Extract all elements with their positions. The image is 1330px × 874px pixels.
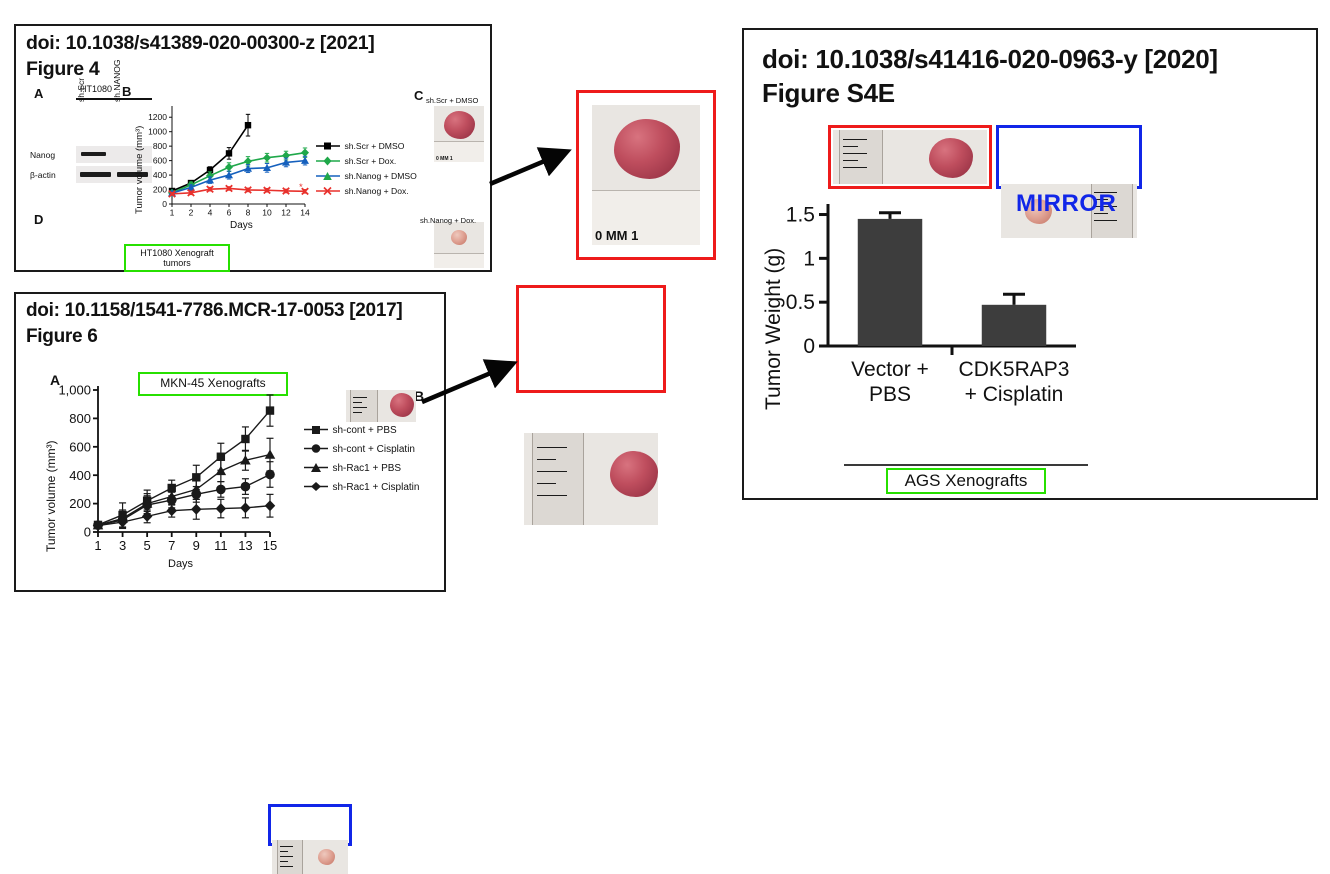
tumor-shape-vector-pbs [929, 138, 973, 178]
panel1-letter-d: D [34, 212, 43, 227]
panel-paper-3: doi: 10.1038/s41416-020-0963-y [2020] Fi… [742, 28, 1318, 500]
legend2-label-2: sh-Rac1 + PBS [332, 463, 401, 474]
svg-text:13: 13 [238, 538, 252, 553]
enlargement-ruler-top: 0 MM 1 [592, 190, 700, 245]
legend-swatch-0 [316, 141, 340, 151]
legend-swatch-3 [316, 186, 340, 196]
legend2-swatch-2 [304, 462, 328, 473]
panel2-chart-ylabel: Tumor volume (mm³) [44, 440, 58, 552]
panel3-bar-chart: Tumor Weight (g) 00.511.5Vector +PBSCDK5… [756, 188, 1086, 438]
svg-text:9: 9 [193, 538, 200, 553]
panel-paper-2: doi: 10.1158/1541-7786.MCR-17-0053 [2017… [14, 292, 446, 592]
panel1-letter-b: B [122, 84, 131, 99]
legend2-swatch-3 [304, 481, 328, 492]
panel3-greenbox-label: AGS Xenografts [905, 471, 1028, 490]
svg-text:CDK5RAP3: CDK5RAP3 [959, 358, 1070, 381]
enlargement-red-box-bottom [516, 285, 666, 393]
ruler-text-top: 0 MM 1 [436, 156, 453, 162]
svg-text:12: 12 [281, 208, 291, 218]
panel1-line-chart: Tumor volume (mm³) 020040060080010001200… [128, 102, 313, 236]
svg-text:6: 6 [227, 208, 232, 218]
enlargement-photo-top: 0 MM 1 [592, 105, 700, 245]
panel2-figure-label: Figure 6 [26, 326, 98, 348]
panel3-blue-highlight-box [996, 125, 1142, 189]
svg-text:400: 400 [69, 468, 91, 483]
panel1-figure-label: Figure 4 [26, 58, 99, 81]
legend2-item-0: sh-cont + PBS [304, 422, 397, 440]
legend2-item-3: sh-Rac1 + Cisplatin [304, 479, 419, 497]
svg-text:200: 200 [69, 496, 91, 511]
svg-text:200: 200 [153, 185, 167, 195]
panel1-letter-a: A [34, 86, 43, 101]
panel3-chart-svg: 00.511.5Vector +PBSCDK5RAP3+ Cisplatin [756, 188, 1086, 438]
svg-text:800: 800 [153, 141, 167, 151]
blot-lane-label-2: sh.NANOG [112, 59, 122, 102]
panel1-letter-c: C [414, 88, 423, 103]
panel2-source-photo-top [346, 390, 416, 422]
svg-text:0: 0 [803, 335, 815, 358]
svg-text:800: 800 [69, 411, 91, 426]
panel2-chart-svg: 02004006008001,00013579111315 [40, 380, 280, 578]
panel1-chart-xlabel: Days [230, 220, 253, 231]
svg-text:14: 14 [300, 208, 310, 218]
legend-label-1: sh.Scr + Dox. [344, 156, 396, 166]
svg-text:11: 11 [214, 538, 228, 553]
svg-text:400: 400 [153, 170, 167, 180]
svg-text:+ Cisplatin: + Cisplatin [965, 383, 1064, 406]
panel1-doi: doi: 10.1038/s41389-020-00300-z [2021] [26, 32, 375, 55]
enlargement-tumor-bottom [610, 451, 658, 497]
blot-row-label-2: β-actin [30, 170, 56, 180]
svg-text:600: 600 [153, 156, 167, 166]
legend-label-0: sh.Scr + DMSO [344, 141, 404, 151]
svg-text:7: 7 [168, 538, 175, 553]
svg-text:10: 10 [262, 208, 272, 218]
legend-swatch-2 [316, 171, 340, 181]
svg-text:600: 600 [69, 439, 91, 454]
panelC-bottom-label: sh.Nanog + Dox. [420, 216, 476, 225]
svg-text:1: 1 [170, 208, 175, 218]
panel-paper-1: doi: 10.1038/s41389-020-00300-z [2021] F… [14, 24, 492, 272]
panel3-greenbox: AGS Xenografts [886, 468, 1046, 494]
legend-item-3: sh.Nanog + Dox. [316, 183, 409, 201]
svg-text:2: 2 [189, 208, 194, 218]
legend2-swatch-1 [304, 443, 328, 454]
enlargement-ruler-text: 0 MM 1 [595, 228, 638, 243]
panel1-chart-ylabel: Tumor volume (mm³) [134, 126, 145, 214]
svg-text:1,000: 1,000 [58, 383, 91, 398]
panel3-group-rule [844, 464, 1088, 466]
svg-text:4: 4 [208, 208, 213, 218]
svg-text:1: 1 [803, 247, 815, 270]
legend2-item-1: sh-cont + Cisplatin [304, 441, 415, 459]
legend-label-2: sh.Nanog + DMSO [344, 171, 416, 181]
panel3-doi: doi: 10.1038/s41416-020-0963-y [2020] [762, 44, 1218, 75]
svg-text:5: 5 [144, 538, 151, 553]
legend-label-3: sh.Nanog + Dox. [344, 186, 408, 196]
panel2-bottom-ruler [277, 840, 303, 874]
panelC-tumor-photo-top: 0 MM 1 [434, 106, 484, 162]
blot-band-nanog-scr [81, 152, 106, 156]
svg-text:0: 0 [84, 525, 91, 540]
panel2-source-photo-bottom [272, 840, 348, 874]
svg-text:1.5: 1.5 [786, 204, 815, 227]
enlargement-photo-bottom [524, 433, 658, 525]
blot-band-bactin-scr [80, 172, 111, 177]
panel3-photo-vector-pbs [833, 130, 987, 184]
enlargement-tumor-top [614, 119, 680, 179]
ruler-strip-top: 0 MM 1 [434, 141, 484, 162]
legend-swatch-1 [316, 156, 340, 166]
panel1-greenbox-label: HT1080 Xenograft tumors [126, 248, 228, 268]
panelC-top-label: sh.Scr + DMSO [426, 96, 478, 105]
svg-text:15: 15 [263, 538, 277, 553]
panelC-tumor-photo-bottom [434, 222, 484, 268]
svg-text:1200: 1200 [148, 112, 167, 122]
legend2-label-1: sh-cont + Cisplatin [332, 444, 415, 455]
panel3-left-ruler [839, 130, 883, 184]
tumor-shape-scr-dmso [444, 111, 475, 139]
panel2-top-ruler [350, 390, 378, 422]
blot-lane-label-1: sh.Scr [76, 78, 86, 102]
svg-text:PBS: PBS [869, 383, 911, 406]
enlargement-bottom-ruler [532, 433, 584, 525]
blot-row-label-1: Nanog [30, 150, 55, 160]
legend2-label-3: sh-Rac1 + Cisplatin [332, 482, 419, 493]
svg-text:8: 8 [246, 208, 251, 218]
panel2-line-chart: Tumor volume (mm³) 02004006008001,000135… [40, 380, 280, 578]
svg-text:*: * [299, 182, 303, 193]
svg-text:1: 1 [94, 538, 101, 553]
ruler-strip-bottom [434, 253, 484, 268]
svg-text:0.5: 0.5 [786, 291, 815, 314]
panel2-chart-legend: sh-cont + PBS sh-cont + Cisplatin sh-Rac… [304, 422, 444, 502]
panel2-doi: doi: 10.1158/1541-7786.MCR-17-0053 [2017… [26, 300, 402, 322]
arrow-panel2-to-enlargement [420, 352, 526, 410]
panel1-chart-svg: 02004006008001000120012468101214* [128, 102, 313, 236]
arrow-panel1-to-enlargement [488, 140, 580, 190]
svg-text:Vector +: Vector + [851, 358, 929, 381]
panel1-chart-legend: sh.Scr + DMSO sh.Scr + Dox. sh.Nanog + D… [316, 138, 428, 200]
tumor-shape-panel2-bottom [318, 849, 335, 865]
legend2-label-0: sh-cont + PBS [332, 425, 396, 436]
svg-text:3: 3 [119, 538, 126, 553]
legend2-swatch-0 [304, 424, 328, 435]
svg-text:0: 0 [162, 199, 167, 209]
tumor-shape-nanog-dox [451, 230, 467, 245]
svg-text:1000: 1000 [148, 127, 167, 137]
panel3-chart-ylabel: Tumor Weight (g) [762, 248, 786, 410]
legend2-item-2: sh-Rac1 + PBS [304, 460, 401, 478]
panel3-figure-label: Figure S4E [762, 78, 895, 109]
tumor-shape-panel2-top [390, 393, 414, 417]
panel1-greenbox: HT1080 Xenograft tumors [124, 244, 230, 272]
panel2-chart-xlabel: Days [168, 558, 193, 570]
